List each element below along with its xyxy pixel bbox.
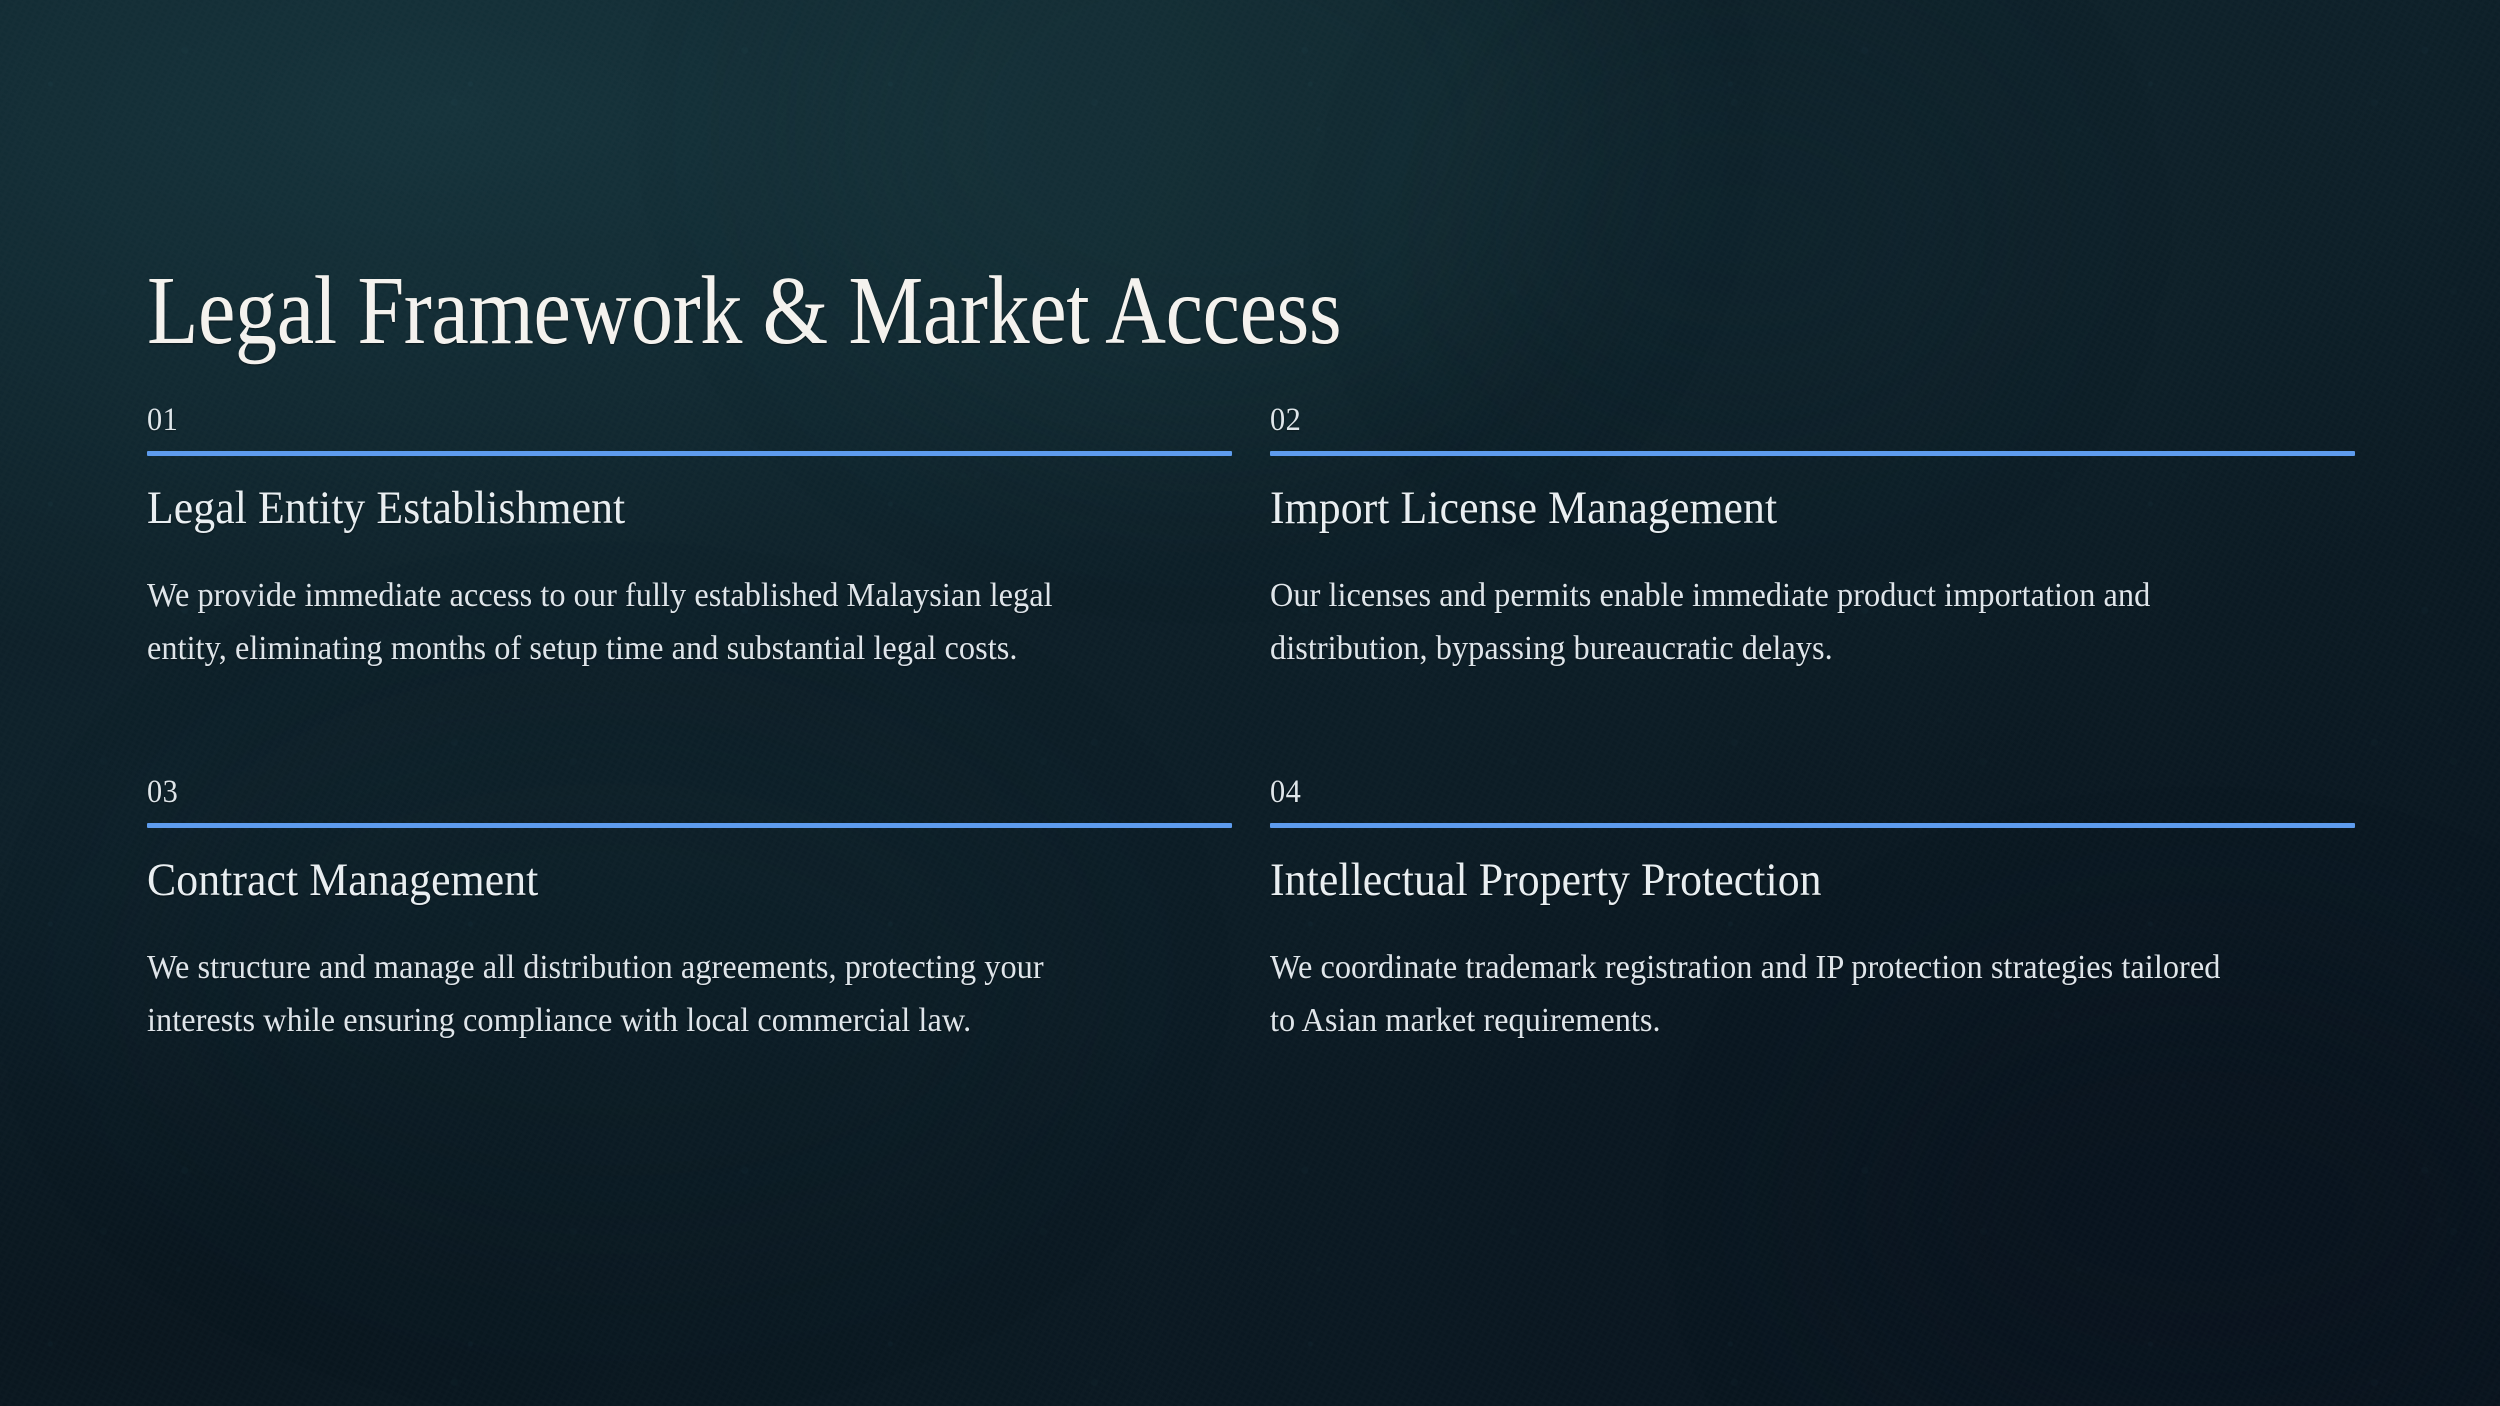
presentation-slide: Legal Framework & Market Access 01 Legal… <box>0 0 2500 1406</box>
card-number-04: 04 <box>1270 776 1301 823</box>
card-heading-03: Contract Management <box>147 854 538 907</box>
card-body-01: We provide immediate access to our fully… <box>147 569 1107 676</box>
card-accent-rule-01 <box>147 451 1232 456</box>
feature-card-04: 04 Intellectual Property Protection We c… <box>1270 776 2355 1082</box>
slide-content: Legal Framework & Market Access 01 Legal… <box>0 0 2500 1406</box>
feature-card-grid: 01 Legal Entity Establishment We provide… <box>147 404 2355 1082</box>
card-number-01: 01 <box>147 404 178 451</box>
feature-card-03: 03 Contract Management We structure and … <box>147 776 1232 1082</box>
card-number-03: 03 <box>147 776 178 823</box>
card-body-02: Our licenses and permits enable immediat… <box>1270 569 2230 676</box>
card-heading-02: Import License Management <box>1270 482 1777 535</box>
page-title: Legal Framework & Market Access <box>147 262 1341 360</box>
card-body-04: We coordinate trademark registration and… <box>1270 941 2230 1048</box>
feature-card-02: 02 Import License Management Our license… <box>1270 404 2355 710</box>
card-heading-01: Legal Entity Establishment <box>147 482 625 535</box>
feature-card-01: 01 Legal Entity Establishment We provide… <box>147 404 1232 710</box>
card-body-03: We structure and manage all distribution… <box>147 941 1107 1048</box>
card-heading-04: Intellectual Property Protection <box>1270 854 1822 907</box>
card-accent-rule-04 <box>1270 823 2355 828</box>
card-accent-rule-02 <box>1270 451 2355 456</box>
card-accent-rule-03 <box>147 823 1232 828</box>
card-number-02: 02 <box>1270 404 1301 451</box>
